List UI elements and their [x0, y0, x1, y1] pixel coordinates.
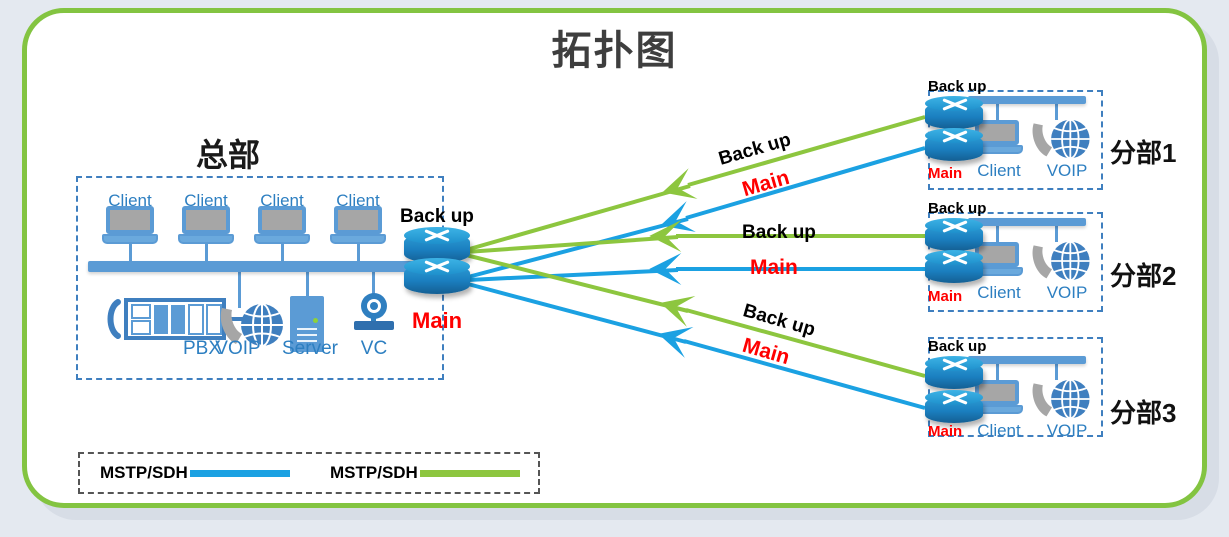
- legend-item-backup: MSTP/SDH: [330, 463, 520, 483]
- branch-2-backup-link-label: Back up: [742, 222, 816, 244]
- laptop-base-icon: [178, 234, 234, 244]
- branch-3-voip-label: VOIP: [1040, 422, 1094, 440]
- laptop-base-icon: [330, 234, 386, 244]
- branch-3-main-caption: Main: [928, 423, 962, 440]
- branch-3-backup-router[interactable]: [925, 356, 983, 394]
- branch-1-client-label: Client: [972, 162, 1026, 180]
- branch-2-main-caption: Main: [928, 288, 962, 305]
- hq-client-label: Client: [255, 192, 309, 210]
- hq-voip-label: VOIP: [214, 340, 262, 358]
- hq-heading: 总部: [196, 130, 260, 176]
- branch-1-main-router[interactable]: [925, 128, 983, 166]
- legend-item-main: MSTP/SDH: [100, 463, 290, 483]
- hq-backup-router-caption: Back up: [400, 206, 474, 228]
- hq-bus-bar: [88, 261, 428, 272]
- laptop-base-icon: [254, 234, 310, 244]
- camera-icon[interactable]: [350, 292, 398, 336]
- laptop-base-icon: [102, 234, 158, 244]
- server-vent: [297, 328, 317, 330]
- branch-3-backup-caption: Back up: [928, 338, 986, 355]
- legend-line-green: [420, 470, 520, 477]
- laptop-screen-icon: [334, 206, 382, 234]
- branch-2-client-label: Client: [972, 284, 1026, 302]
- router-star-icon: [940, 97, 970, 112]
- hq-client-label: Client: [331, 192, 385, 210]
- router-star-icon: [940, 219, 970, 234]
- page-title: 拓扑图: [0, 18, 1229, 76]
- router-star-icon: [422, 228, 452, 243]
- globe-phone-icon[interactable]: [1030, 238, 1076, 284]
- branch-2-main-router[interactable]: [925, 250, 983, 288]
- hq-main-router-caption: Main: [412, 308, 462, 334]
- branch-1-voip-label: VOIP: [1040, 162, 1094, 180]
- globe-phone-icon[interactable]: [1030, 376, 1076, 422]
- branch-3-name: 分部3: [1110, 393, 1176, 430]
- laptop-screen-icon: [106, 206, 154, 234]
- pbx-icon[interactable]: [104, 296, 234, 342]
- branch-2-name: 分部2: [1110, 256, 1176, 293]
- server-led-icon: [313, 318, 318, 323]
- hq-client-label: Client: [103, 192, 157, 210]
- legend-label: MSTP/SDH: [330, 463, 418, 483]
- branch-2-main-link-label: Main: [750, 256, 798, 280]
- topology-diagram: 拓扑图 总部: [0, 0, 1229, 537]
- laptop-screen-icon: [258, 206, 306, 234]
- branch-1-main-caption: Main: [928, 165, 962, 182]
- branch-1-bus-bar: [968, 96, 1086, 104]
- hq-main-router[interactable]: [404, 258, 470, 300]
- globe-phone-icon[interactable]: [1030, 116, 1076, 162]
- hq-client-laptop[interactable]: [178, 206, 234, 246]
- legend-line-blue: [190, 470, 290, 477]
- hq-client-label: Client: [179, 192, 233, 210]
- router-star-icon: [940, 357, 970, 372]
- branch-2-backup-caption: Back up: [928, 200, 986, 217]
- branch-3-bus-bar: [968, 356, 1086, 364]
- vc-label: VC: [352, 340, 396, 358]
- branch-2-voip-label: VOIP: [1040, 284, 1094, 302]
- router-star-icon: [422, 259, 452, 274]
- server-label: Server: [282, 340, 334, 358]
- hq-client-laptop[interactable]: [102, 206, 158, 246]
- router-star-icon: [940, 391, 970, 406]
- router-star-icon: [940, 251, 970, 266]
- hq-server-drop: [306, 270, 309, 296]
- legend-label: MSTP/SDH: [100, 463, 188, 483]
- hq-client-laptop[interactable]: [254, 206, 310, 246]
- laptop-screen-icon: [182, 206, 230, 234]
- branch-1-backup-caption: Back up: [928, 78, 986, 95]
- branch-1-name: 分部1: [1110, 133, 1176, 170]
- branch-2-bus-bar: [968, 218, 1086, 226]
- hq-client-laptop[interactable]: [330, 206, 386, 246]
- branch-3-client-label: Client: [972, 422, 1026, 440]
- server-vent: [297, 334, 317, 336]
- router-star-icon: [940, 129, 970, 144]
